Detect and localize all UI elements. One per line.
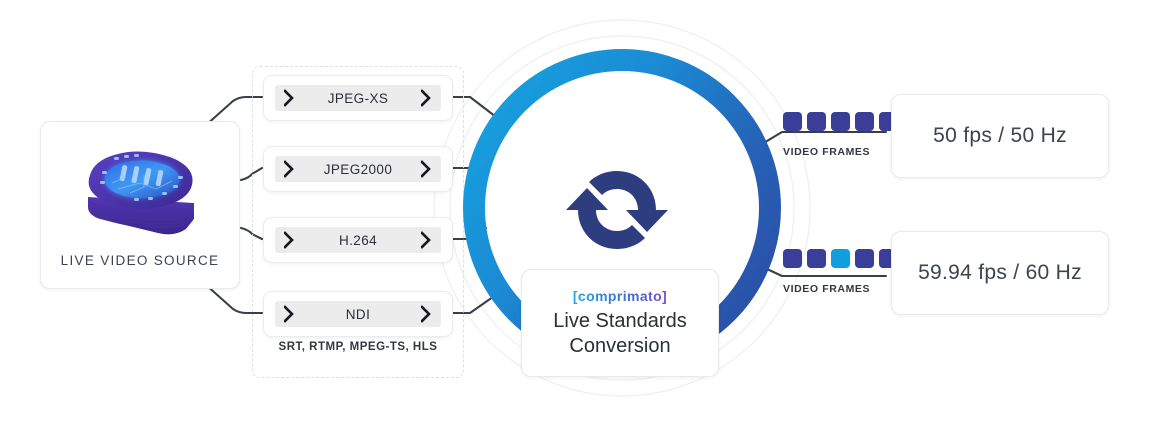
codec-label: NDI [295,307,421,322]
center-card-title-line1: Live Standards [553,310,686,332]
codec-card-jpeg-xs[interactable]: JPEG-XS [263,75,453,121]
codec-pill: JPEG2000 [275,156,441,182]
codec-card-jpeg2000[interactable]: JPEG2000 [263,146,453,192]
codec-card-h264[interactable]: H.264 [263,217,453,263]
live-video-source-label: LIVE VIDEO SOURCE [61,253,220,268]
output-card-5994fps[interactable]: 59.94 fps / 60 Hz [891,231,1109,315]
chevron-right-icon [421,231,432,249]
video-frame-inserted [831,249,850,268]
codec-pill: JPEG-XS [275,85,441,111]
chevron-right-icon [284,231,295,249]
live-video-source-card[interactable]: LIVE VIDEO SOURCE [40,121,240,289]
codec-label: H.264 [295,233,421,248]
video-frame [831,112,850,131]
video-frames-label-2: VIDEO FRAMES [783,283,870,295]
chevron-right-icon [421,160,432,178]
video-frame [807,249,826,268]
codec-label: JPEG-XS [295,91,421,106]
diagram-canvas: LIVE VIDEO SOURCE JPEG-XS JPEG2000 [0,0,1150,421]
chevron-right-icon [284,160,295,178]
video-frame [783,249,802,268]
output-value: 50 fps / 50 Hz [933,124,1067,148]
video-frame [855,249,874,268]
sync-arrows-icon [565,158,669,262]
chevron-right-icon [284,89,295,107]
live-video-source-device-icon [78,145,202,237]
chevron-right-icon [421,89,432,107]
codec-pill: NDI [275,301,441,327]
video-frames-row-1 [783,112,898,131]
center-card-title-line2: Conversion [569,335,670,357]
codec-card-ndi[interactable]: NDI [263,291,453,337]
codec-pill: H.264 [275,227,441,253]
output-value: 59.94 fps / 60 Hz [918,261,1082,285]
codec-group: JPEG-XS JPEG2000 H [252,66,464,378]
output-card-50fps[interactable]: 50 fps / 50 Hz [891,94,1109,178]
codec-label: JPEG2000 [295,162,421,177]
transport-protocols-caption: SRT, RTMP, MPEG-TS, HLS [253,341,463,353]
comprimato-brand-logo: [comprimato] [573,288,667,304]
live-standards-conversion-card[interactable]: [comprimato] Live Standards Conversion [521,269,719,377]
video-frames-label-1: VIDEO FRAMES [783,146,870,158]
video-frame [783,112,802,131]
chevron-right-icon [284,305,295,323]
video-frame [807,112,826,131]
chevron-right-icon [421,305,432,323]
video-frame [855,112,874,131]
center-card-title: Live Standards Conversion [553,309,686,359]
